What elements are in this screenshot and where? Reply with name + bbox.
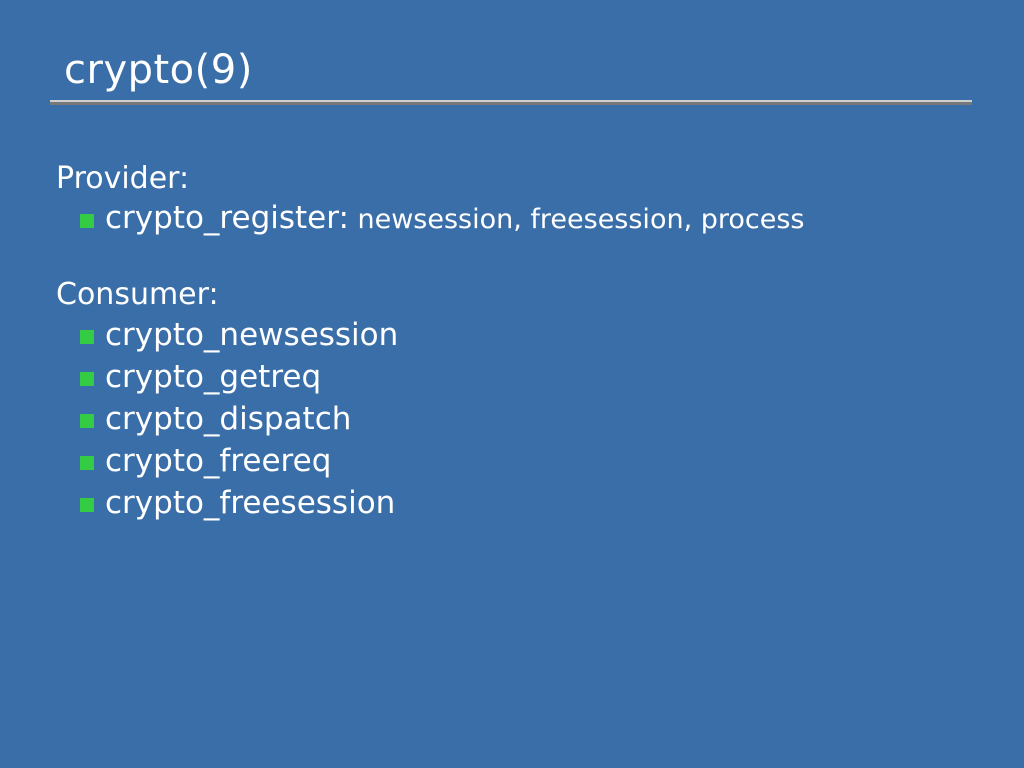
list-item: crypto_getreq bbox=[50, 356, 990, 398]
list-item: crypto_freesession bbox=[50, 482, 990, 524]
square-bullet-icon bbox=[80, 330, 94, 344]
list-item: crypto_freereq bbox=[50, 440, 990, 482]
presentation-slide: crypto(9) Provider: crypto_register: new… bbox=[0, 0, 1024, 768]
bullet-list-consumer: crypto_newsession crypto_getreq crypto_d… bbox=[50, 314, 990, 524]
list-item: crypto_register: newsession, freesession… bbox=[50, 198, 990, 240]
page-title: crypto(9) bbox=[50, 44, 972, 96]
bullet-list-provider: crypto_register: newsession, freesession… bbox=[50, 198, 990, 240]
list-item: crypto_dispatch bbox=[50, 398, 990, 440]
square-bullet-icon bbox=[80, 414, 94, 428]
section-heading-consumer: Consumer: bbox=[50, 276, 990, 314]
square-bullet-icon bbox=[80, 214, 94, 228]
square-bullet-icon bbox=[80, 372, 94, 386]
list-item-label-main: crypto_register: bbox=[105, 200, 349, 236]
list-item-label: crypto_newsession bbox=[105, 318, 398, 352]
list-item-label-detail: newsession, freesession, process bbox=[349, 204, 805, 235]
section-consumer: Consumer: crypto_newsession crypto_getre… bbox=[50, 276, 990, 524]
list-item-label: crypto_register: newsession, freesession… bbox=[105, 201, 805, 237]
slide-header: crypto(9) bbox=[50, 44, 972, 105]
section-provider: Provider: crypto_register: newsession, f… bbox=[50, 160, 990, 240]
list-item-label: crypto_dispatch bbox=[105, 402, 351, 436]
list-item-label: crypto_freesession bbox=[105, 486, 395, 520]
list-item-label: crypto_getreq bbox=[105, 360, 321, 394]
square-bullet-icon bbox=[80, 456, 94, 470]
list-item: crypto_newsession bbox=[50, 314, 990, 356]
title-divider bbox=[50, 100, 972, 105]
square-bullet-icon bbox=[80, 498, 94, 512]
list-item-label: crypto_freereq bbox=[105, 444, 331, 478]
divider-shadow bbox=[50, 102, 972, 105]
slide-body: Provider: crypto_register: newsession, f… bbox=[50, 160, 990, 524]
section-heading-provider: Provider: bbox=[50, 160, 990, 198]
